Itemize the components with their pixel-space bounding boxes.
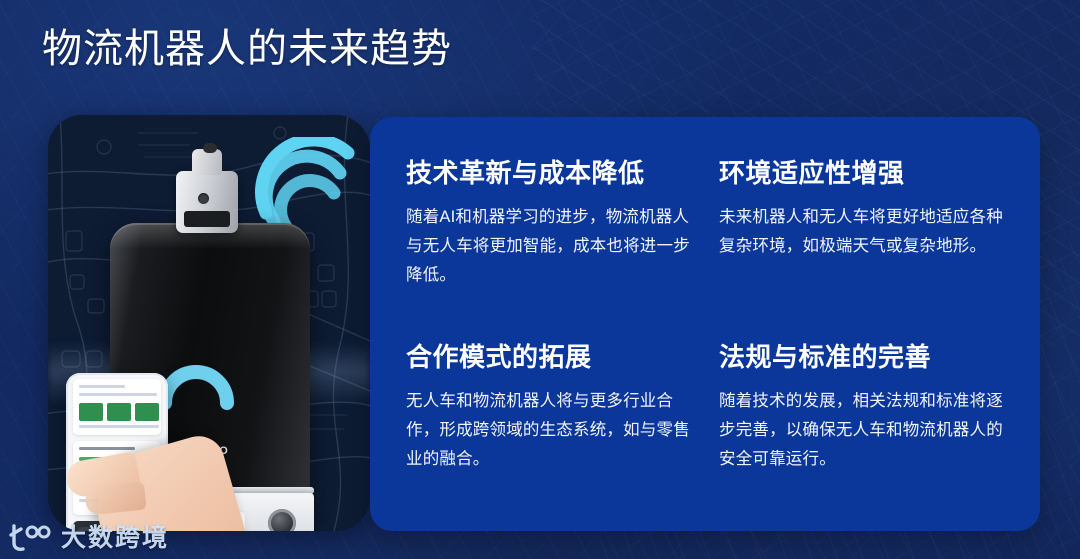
feature-item-0: 技术革新与成本降低 随着AI和机器学习的进步，物流机器人与无人车将更加智能，成本… bbox=[406, 157, 697, 323]
feature-heading-3: 法规与标准的完善 bbox=[719, 341, 1010, 373]
feature-item-1: 环境适应性增强 未来机器人和无人车将更好地适应各种复杂环境，如极端天气或复杂地形… bbox=[719, 157, 1010, 323]
dashu-kuajing-logo-icon bbox=[8, 523, 52, 553]
feature-heading-0: 技术革新与成本降低 bbox=[406, 157, 697, 189]
feature-body-2: 无人车和物流机器人将与更多行业合作，形成跨领域的生态系统，如与零售业的融合。 bbox=[406, 387, 697, 474]
watermark: 大数跨境 bbox=[8, 523, 169, 553]
lidar-scan-slot bbox=[184, 211, 230, 227]
slide-root: 物流机器人的未来趋势 bbox=[0, 0, 1080, 559]
feature-item-2: 合作模式的拓展 无人车和物流机器人将与更多行业合作，形成跨领域的生态系统，如与零… bbox=[406, 341, 697, 507]
content-panel: 技术革新与成本降低 随着AI和机器学习的进步，物流机器人与无人车将更加智能，成本… bbox=[370, 117, 1040, 531]
feature-item-3: 法规与标准的完善 随着技术的发展，相关法规和标准将逐步完善，以确保无人车和物流机… bbox=[719, 341, 1010, 507]
lidar-camera-lens bbox=[198, 193, 209, 204]
feature-body-1: 未来机器人和无人车将更好地适应各种复杂环境，如极端天气或复杂地形。 bbox=[719, 203, 1010, 261]
robot-wheel-right bbox=[268, 509, 296, 531]
feature-body-0: 随着AI和机器学习的进步，物流机器人与无人车将更加智能，成本也将进一步降低。 bbox=[406, 203, 697, 290]
feature-grid: 技术革新与成本降低 随着AI和机器学习的进步，物流机器人与无人车将更加智能，成本… bbox=[406, 157, 1010, 507]
feature-body-3: 随着技术的发展，相关法规和标准将逐步完善，以确保无人车和物流机器人的安全可靠运行… bbox=[719, 387, 1010, 474]
feature-heading-1: 环境适应性增强 bbox=[719, 157, 1010, 189]
page-title: 物流机器人的未来趋势 bbox=[42, 22, 452, 76]
middle-finger bbox=[84, 481, 147, 515]
wifi-waves-icon bbox=[252, 137, 356, 229]
phone-top-card bbox=[73, 379, 161, 435]
feature-heading-2: 合作模式的拓展 bbox=[406, 341, 697, 373]
robot-photo-card: CAI NIAO 菜鸟无人车 GT Pro bbox=[48, 115, 370, 531]
watermark-text: 大数跨境 bbox=[61, 524, 169, 552]
lidar-top-dot bbox=[203, 143, 217, 153]
